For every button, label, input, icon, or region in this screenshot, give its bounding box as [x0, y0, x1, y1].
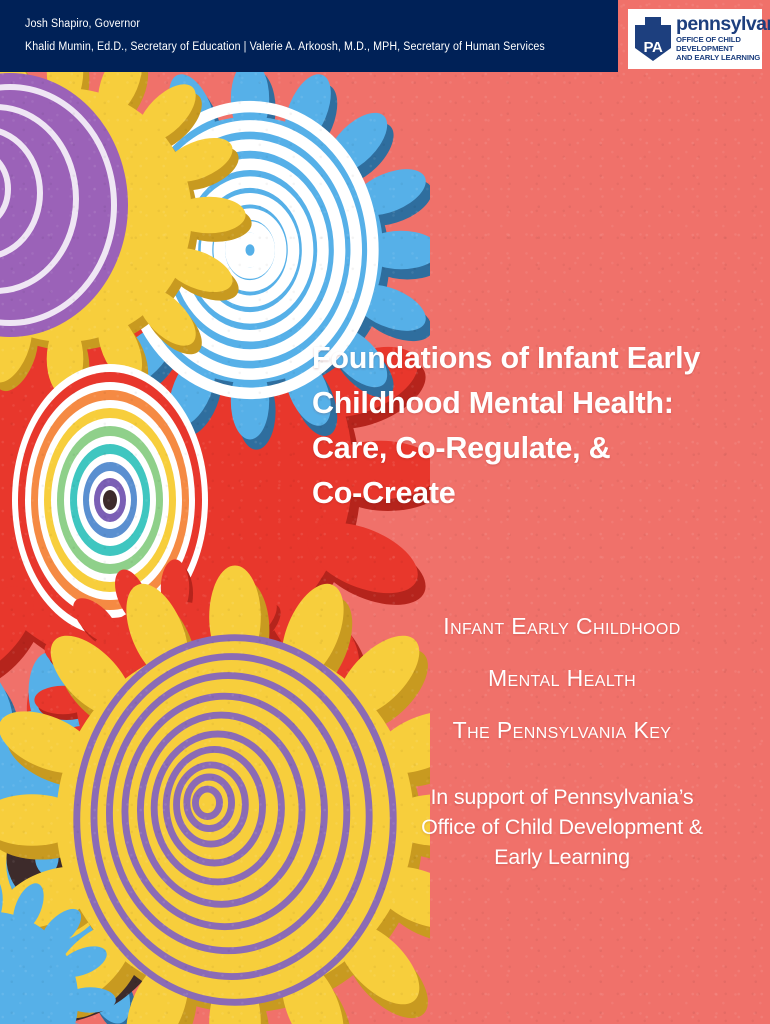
- support-line-3: Early Learning: [386, 842, 738, 872]
- logo-text-group: pennsylvania OFFICE OF CHILD DEVELOPMENT…: [676, 15, 770, 63]
- support-line-1: In support of Pennsylvania’s: [386, 782, 738, 812]
- pennsylvania-ocdel-logo: PA pennsylvania OFFICE OF CHILD DEVELOPM…: [628, 9, 762, 69]
- subtitle-line-1: Infant Early Childhood: [386, 600, 738, 652]
- logo-subline-group: OFFICE OF CHILD DEVELOPMENT AND EARLY LE…: [676, 36, 770, 63]
- logo-wordmark: pennsylvania: [676, 15, 770, 35]
- keystone-letters: PA: [634, 40, 672, 55]
- subtitle-line-2: Mental Health: [386, 652, 738, 704]
- governor-name: Josh Shapiro, Governor: [25, 18, 140, 30]
- presentation-title-slide: Josh Shapiro, Governor Khalid Mumin, Ed.…: [0, 0, 770, 1024]
- logo-subline-1: OFFICE OF CHILD DEVELOPMENT: [676, 36, 770, 54]
- logo-subline-2: AND EARLY LEARNING: [676, 54, 770, 63]
- secretaries-names: Khalid Mumin, Ed.D., Secretary of Educat…: [25, 41, 545, 53]
- support-line-2: Office of Child Development &: [386, 812, 738, 842]
- subtitle-line-3: The Pennsylvania Key: [386, 704, 738, 756]
- slide-title: Foundations of Infant Early Childhood Me…: [312, 336, 732, 516]
- title-line-1: Foundations of Infant Early: [312, 336, 732, 381]
- title-line-2: Childhood Mental Health:: [312, 381, 732, 426]
- title-line-4: Co-Create: [312, 471, 732, 516]
- title-line-3: Care, Co-Regulate, &: [312, 426, 732, 471]
- keystone-icon: PA: [634, 16, 672, 62]
- state-officials-header-band: Josh Shapiro, Governor Khalid Mumin, Ed.…: [0, 0, 618, 72]
- support-statement: In support of Pennsylvania’s Office of C…: [386, 782, 738, 872]
- slide-subtitle: Infant Early Childhood Mental Health The…: [386, 600, 738, 756]
